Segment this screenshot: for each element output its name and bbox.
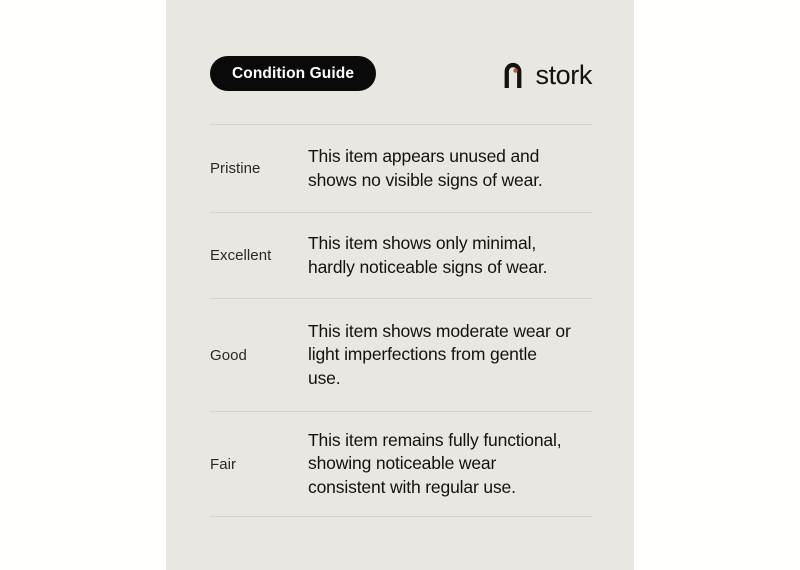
- condition-label: Pristine: [210, 160, 308, 177]
- condition-guide-badge[interactable]: Condition Guide: [210, 56, 376, 91]
- condition-label: Excellent: [210, 247, 308, 264]
- table-row: Pristine This item appears unused and sh…: [210, 125, 592, 212]
- condition-guide-table: Pristine This item appears unused and sh…: [210, 124, 592, 517]
- brand-lockup: stork: [500, 57, 592, 91]
- table-row: Good This item shows moderate wear or li…: [210, 299, 592, 411]
- condition-label: Good: [210, 347, 308, 364]
- condition-description: This item remains fully functional, show…: [308, 429, 592, 498]
- table-row: Fair This item remains fully functional,…: [210, 412, 592, 516]
- condition-description: This item shows only minimal, hardly not…: [308, 232, 592, 278]
- card-header: Condition Guide stork: [210, 56, 592, 92]
- screenshot-stage: Condition Guide stork Pristine This item…: [0, 0, 800, 570]
- condition-description: This item shows moderate wear or light i…: [308, 320, 592, 389]
- condition-label: Fair: [210, 456, 308, 473]
- row-divider: [210, 516, 592, 517]
- brand-wordmark: stork: [535, 62, 592, 89]
- condition-guide-card: Condition Guide stork Pristine This item…: [166, 0, 634, 570]
- table-row: Excellent This item shows only minimal, …: [210, 213, 592, 298]
- condition-description: This item appears unused and shows no vi…: [308, 145, 592, 191]
- stork-arch-logo-icon: [500, 59, 526, 89]
